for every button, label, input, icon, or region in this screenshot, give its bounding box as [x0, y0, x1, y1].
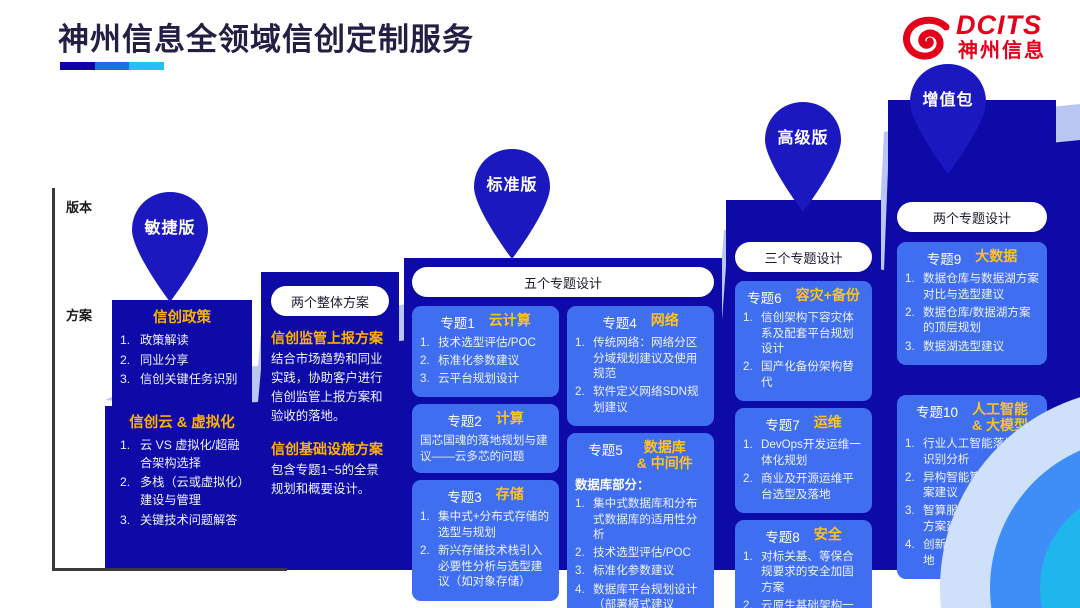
logo-wordmark: DCITS [956, 12, 1042, 39]
column-five-topics: 五个专题设计 专题1 云计算 1.技术选型评估/POC 2.标准化参数建议 3.… [404, 258, 722, 568]
topic-card-2[interactable]: 专题2 计算 国芯国魂的落地规划与建议——云多芯的问题 [412, 404, 559, 473]
list-item: 1.云 VS 虚拟化/超融合架构选择 [120, 437, 244, 472]
list-item: 2.云原生基础架构一体化安全防护建设方案 [743, 598, 864, 608]
topic-tag: 人工智能 & 大模型 [972, 401, 1028, 433]
topic-8-list: 1.对标关基、等保合规要求的安全加固方案 2.云原生基础架构一体化安全防护建设方… [743, 549, 864, 608]
list-item: 4.数据库平台规划设计（部署模式建议 DBaaS / 云上PaaS） [575, 582, 706, 608]
topic-1-list: 1.技术选型评估/POC 2.标准化参数建议 3.云平台规划设计 [420, 335, 551, 387]
title-underline [60, 62, 164, 70]
axis-label-version: 版本 [66, 197, 92, 216]
list-item: 2.多栈（云或虚拟化）建设与管理 [120, 474, 244, 509]
list-item: 2.同业分享 [120, 352, 244, 370]
topic-card-6[interactable]: 专题6 容灾+备份 1.信创架构下容灾体系及配套平台规划设计 2.国产化备份架构… [735, 281, 872, 401]
topic-7-list: 1.DevOps开发运维一体化规划 2.商业及开源运维平台选型及落地 [743, 437, 864, 502]
topic-tag: 计算 [496, 410, 524, 426]
list-item: 2.异构智能算力平台的方案建议 [905, 470, 1039, 501]
topic-10-list: 1.行业人工智能落地场景识别分析 2.异构智能算力平台的方案建议 3.智算服务器… [905, 436, 1039, 569]
topic-number: 专题3 [447, 486, 482, 506]
list-item: 1.对标关基、等保合规要求的安全加固方案 [743, 549, 864, 596]
pin-standard[interactable]: 标准版 [466, 143, 558, 261]
pin-value-added[interactable]: 增值包 [902, 58, 994, 176]
pin-agile[interactable]: 敏捷版 [124, 186, 216, 304]
topic-5-list: 1.集中式数据库和分布式数据库的适用性分析 2.技术选型评估/POC 3.标准化… [575, 496, 706, 608]
plan-head-infrastructure: 信创基础设施方案 [271, 439, 389, 459]
topic-tag: 大数据 [975, 248, 1017, 264]
pin-label: 敏捷版 [124, 214, 216, 238]
list-item: 3.标准化参数建议 [575, 563, 706, 579]
list-item: 2.商业及开源运维平台选型及落地 [743, 471, 864, 502]
topic-number: 专题4 [602, 312, 637, 332]
pill-five-topics[interactable]: 五个专题设计 [412, 267, 714, 297]
list-item: 1.传统网络：网络分区分域规划建议及使用规范 [575, 335, 706, 382]
list-item: 1.行业人工智能落地场景识别分析 [905, 436, 1039, 467]
topic-number: 专题8 [765, 526, 800, 546]
cloud-list: 1.云 VS 虚拟化/超融合架构选择 2.多栈（云或虚拟化）建设与管理 3.关键… [120, 437, 244, 529]
topic-tag: 网络 [651, 312, 679, 328]
list-item: 1.集中式+分布式存储的选型与规划 [420, 509, 551, 540]
plan-body-supervision: 结合市场趋势和同业实践，协助客户进行信创监管上报方案和验收的落地。 [271, 350, 389, 425]
list-item: 1.数据仓库与数据湖方案对比与选型建议 [905, 271, 1039, 302]
pin-shape-icon [757, 96, 849, 214]
policy-list: 1.政策解读 2.同业分享 3.信创关键任务识别 [120, 332, 244, 389]
column-overall-plans: 两个整体方案 信创监管上报方案 结合市场趋势和同业实践，协助客户进行信创监管上报… [261, 272, 399, 568]
plan-body-infrastructure: 包含专题1~5的全景规划和概要设计。 [271, 461, 389, 499]
pin-shape-icon [124, 186, 216, 304]
topic-4-list: 1.传统网络：网络分区分域规划建议及使用规范 2.软件定义网络SDN规划建议 [575, 335, 706, 416]
slide-canvas: 神州信息全领域信创定制服务 DCITS 神州信息 版本 方案 信创政策 1.政策… [0, 0, 1080, 608]
list-item: 1.政策解读 [120, 332, 244, 350]
pill-three-topics[interactable]: 三个专题设计 [735, 242, 872, 272]
list-item: 1.信创架构下容灾体系及配套平台规划设计 [743, 310, 864, 357]
topic-number: 专题6 [747, 287, 782, 307]
topic-tag: 安全 [814, 526, 842, 542]
topic-number: 专题9 [927, 248, 962, 268]
list-item: 3.数据湖选型建议 [905, 339, 1039, 355]
topic-card-10[interactable]: 专题10 人工智能 & 大模型 1.行业人工智能落地场景识别分析 2.异构智能算… [897, 395, 1047, 579]
topic-number: 专题2 [447, 410, 482, 430]
topic-tag: 运维 [814, 414, 842, 430]
topic-card-5[interactable]: 专题5 数据库 & 中间件 数据库部分： 1.集中式数据库和分布式数据库的适用性… [567, 433, 714, 608]
axis-vertical-line [52, 188, 55, 570]
topic-tag: 数据库 & 中间件 [637, 439, 693, 471]
topic-card-3[interactable]: 专题3 存储 1.集中式+分布式存储的选型与规划 2.新兴存储技术栈引入必要性分… [412, 480, 559, 600]
axis-baseline [52, 568, 287, 571]
page-title: 神州信息全领域信创定制服务 [58, 14, 474, 59]
topic-card-9[interactable]: 专题9 大数据 1.数据仓库与数据湖方案对比与选型建议 2.数据仓库/数据湖方案… [897, 242, 1047, 365]
list-item: 2.国产化备份架构替代 [743, 359, 864, 390]
list-item: 2.数据仓库/数据湖方案的顶层规划 [905, 305, 1039, 336]
list-item: 2.软件定义网络SDN规划建议 [575, 384, 706, 415]
axis-label-plan: 方案 [66, 305, 92, 324]
column-agile: 信创政策 1.政策解读 2.同业分享 3.信创关键任务识别 信创云 & 虚拟化 … [112, 300, 252, 568]
pill-two-topics[interactable]: 两个专题设计 [897, 202, 1047, 232]
topic-card-7[interactable]: 专题7 运维 1.DevOps开发运维一体化规划 2.商业及开源运维平台选型及落… [735, 408, 872, 513]
plan-head-supervision: 信创监管上报方案 [271, 328, 389, 348]
list-item: 1.集中式数据库和分布式数据库的适用性分析 [575, 496, 706, 543]
topic-number: 专题7 [765, 414, 800, 434]
topic-card-4[interactable]: 专题4 网络 1.传统网络：网络分区分域规划建议及使用规范 2.软件定义网络SD… [567, 306, 714, 426]
list-item: 3.云平台规划设计 [420, 371, 551, 387]
list-item: 2.技术选型评估/POC [575, 545, 706, 561]
pin-advanced[interactable]: 高级版 [757, 96, 849, 214]
section-title-cloud: 信创云 & 虚拟化 [120, 411, 244, 432]
topic-number: 专题5 [588, 439, 623, 459]
list-item: 4.创新业务试点的共研落地 [905, 537, 1039, 568]
list-item: 3.智算服务器+无损网络方案建议 [905, 503, 1039, 534]
list-item: 2.新兴存储技术栈引入必要性分析与选型建议（如对象存储） [420, 543, 551, 590]
pin-shape-icon [466, 143, 558, 261]
topic-card-8[interactable]: 专题8 安全 1.对标关基、等保合规要求的安全加固方案 2.云原生基础架构一体化… [735, 520, 872, 608]
topic-6-list: 1.信创架构下容灾体系及配套平台规划设计 2.国产化备份架构替代 [743, 310, 864, 391]
topic-card-1[interactable]: 专题1 云计算 1.技术选型评估/POC 2.标准化参数建议 3.云平台规划设计 [412, 306, 559, 397]
topic-tag: 存储 [496, 486, 524, 502]
topic-2-text: 国芯国魂的落地规划与建议——云多芯的问题 [420, 433, 551, 465]
topic-3-list: 1.集中式+分布式存储的选型与规划 2.新兴存储技术栈引入必要性分析与选型建议（… [420, 509, 551, 590]
list-item: 1.技术选型评估/POC [420, 335, 551, 351]
list-item: 3.关键技术问题解答 [120, 512, 244, 530]
db-subheading: 数据库部分： [575, 475, 706, 493]
topic-tag: 容灾+备份 [796, 287, 860, 303]
section-title-policy: 信创政策 [120, 306, 244, 327]
pill-overall-plans[interactable]: 两个整体方案 [271, 286, 389, 316]
pin-label: 标准版 [466, 171, 558, 195]
pin-shape-icon [902, 58, 994, 176]
topic-tag: 云计算 [489, 312, 531, 328]
list-item: 3.信创关键任务识别 [120, 371, 244, 389]
column-advanced: 三个专题设计 专题6 容灾+备份 1.信创架构下容灾体系及配套平台规划设计 2.… [726, 200, 881, 568]
list-item: 2.标准化参数建议 [420, 353, 551, 369]
topic-number: 专题10 [916, 401, 958, 421]
topic-9-list: 1.数据仓库与数据湖方案对比与选型建议 2.数据仓库/数据湖方案的顶层规划 3.… [905, 271, 1039, 354]
list-item: 1.DevOps开发运维一体化规划 [743, 437, 864, 468]
pin-label: 高级版 [757, 124, 849, 148]
pin-label: 增值包 [902, 86, 994, 110]
topic-number: 专题1 [440, 312, 475, 332]
